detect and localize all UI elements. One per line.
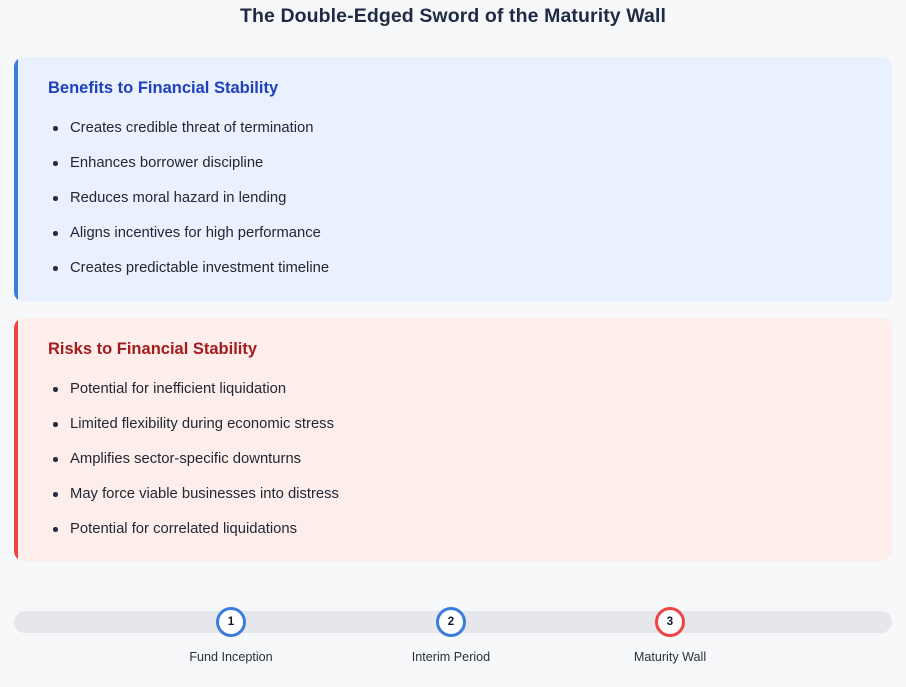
list-item-label: Potential for inefficient liquidation [70, 381, 286, 397]
list-item-label: Potential for correlated liquidations [70, 521, 297, 537]
list-item-label: Limited flexibility during economic stre… [70, 416, 334, 432]
risks-panel: Risks to Financial Stability Potential f… [14, 318, 892, 561]
infographic-page: The Double-Edged Sword of the Maturity W… [0, 0, 906, 687]
list-item-label: Amplifies sector-specific downturns [70, 451, 301, 467]
benefits-panel: Benefits to Financial Stability Creates … [14, 57, 892, 302]
timeline-step-label-3: Maturity Wall [560, 650, 780, 664]
list-item-label: Reduces moral hazard in lending [70, 190, 286, 206]
risks-panel-heading: Risks to Financial Stability [48, 340, 257, 359]
list-item-label: Creates credible threat of termination [70, 120, 313, 136]
bullet-dot-icon [53, 161, 58, 166]
page-title: The Double-Edged Sword of the Maturity W… [0, 5, 906, 28]
list-item: Limited flexibility during economic stre… [48, 407, 339, 442]
bullet-dot-icon [53, 527, 58, 532]
bullet-dot-icon [53, 492, 58, 497]
timeline-step-label-1: Fund Inception [121, 650, 341, 664]
bullet-dot-icon [53, 387, 58, 392]
list-item: Creates credible threat of termination [48, 111, 329, 146]
bullet-dot-icon [53, 422, 58, 427]
timeline-step-marker-3[interactable]: 3 [655, 607, 685, 637]
bullet-dot-icon [53, 266, 58, 271]
risks-bullet-list: Potential for inefficient liquidation Li… [48, 372, 339, 547]
timeline: 1 Fund Inception 2 Interim Period 3 Matu… [0, 590, 906, 687]
bullet-dot-icon [53, 196, 58, 201]
panel-accent-bar [14, 318, 18, 561]
bullet-dot-icon [53, 126, 58, 131]
list-item: Reduces moral hazard in lending [48, 181, 329, 216]
list-item-label: Enhances borrower discipline [70, 155, 263, 171]
benefits-panel-heading: Benefits to Financial Stability [48, 79, 278, 98]
list-item: Potential for correlated liquidations [48, 512, 339, 547]
timeline-step-marker-1[interactable]: 1 [216, 607, 246, 637]
benefits-bullet-list: Creates credible threat of termination E… [48, 111, 329, 286]
list-item: Amplifies sector-specific downturns [48, 442, 339, 477]
list-item: Aligns incentives for high performance [48, 216, 329, 251]
list-item: Enhances borrower discipline [48, 146, 329, 181]
timeline-step-marker-2[interactable]: 2 [436, 607, 466, 637]
bullet-dot-icon [53, 457, 58, 462]
list-item-label: Aligns incentives for high performance [70, 225, 321, 241]
list-item: Creates predictable investment timeline [48, 251, 329, 286]
timeline-step-label-2: Interim Period [341, 650, 561, 664]
list-item-label: Creates predictable investment timeline [70, 260, 329, 276]
list-item-label: May force viable businesses into distres… [70, 486, 339, 502]
panel-accent-bar [14, 57, 18, 302]
list-item: May force viable businesses into distres… [48, 477, 339, 512]
bullet-dot-icon [53, 231, 58, 236]
list-item: Potential for inefficient liquidation [48, 372, 339, 407]
